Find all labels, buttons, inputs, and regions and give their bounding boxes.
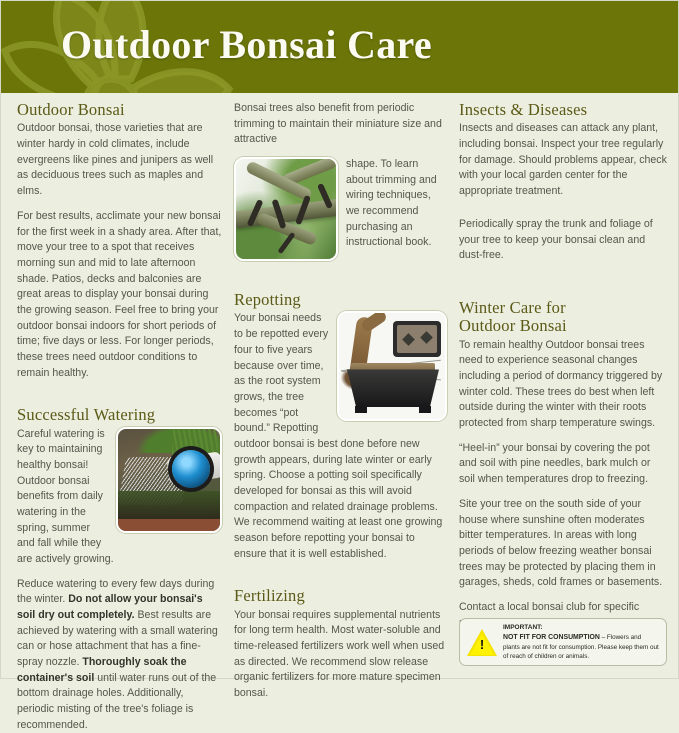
watering-photo [116,427,222,533]
content-columns: Outdoor Bonsai Outdoor bonsai, those var… [1,101,679,679]
column-right: Insects & Diseases Insects and diseases … [459,101,667,631]
repotting-photo [337,311,447,421]
outdoor-bonsai-paragraph-2: For best results, acclimate your new bon… [17,209,222,381]
column-left: Outdoor Bonsai Outdoor bonsai, those var… [17,101,222,733]
warning-line-1: IMPORTANT: [503,623,659,632]
column-middle: Bonsai trees also benefit from periodic … [234,101,447,702]
warning-text: IMPORTANT:NOT FIT FOR CONSUMPTION – Flow… [503,623,659,661]
trimming-paragraph-1: Bonsai trees also benefit from periodic … [234,101,447,148]
winter-care-paragraph-2: “Heel-in” your bonsai by covering the po… [459,441,667,488]
page-header: Outdoor Bonsai Care [1,1,678,93]
heading-insects-diseases: Insects & Diseases [459,101,667,119]
important-warning-box: ! IMPORTANT:NOT FIT FOR CONSUMPTION – Fl… [459,618,667,666]
spacer [17,390,222,406]
heading-successful-watering: Successful Watering [17,406,222,424]
heading-fertilizing: Fertilizing [234,587,447,605]
heading-outdoor-bonsai: Outdoor Bonsai [17,101,222,119]
warning-line-2-bold: NOT FIT FOR CONSUMPTION [503,634,600,641]
warning-triangle-icon: ! [467,629,497,656]
insects-paragraph-2: Periodically spray the trunk and foliage… [459,217,667,264]
winter-care-paragraph-1: To remain healthy Outdoor bonsai trees n… [459,338,667,432]
watering-paragraph-2: Reduce watering to every few days during… [17,577,222,733]
spacer [459,273,667,299]
exclamation-mark: ! [467,638,497,651]
wired-branch-photo [234,157,338,261]
header-divider [1,93,678,96]
heading-winter-care: Winter Care forOutdoor Bonsai [459,299,667,336]
insects-paragraph-1: Insects and diseases can attack any plan… [459,121,667,199]
poster-page: Outdoor Bonsai Care Outdoor Bonsai Outdo… [0,0,679,679]
winter-care-paragraph-3: Site your tree on the south side of your… [459,497,667,591]
heading-repotting: Repotting [234,291,447,309]
winter-care-heading-line-2: Outdoor Bonsai [459,316,567,335]
spacer [459,209,667,217]
spacer [234,265,447,291]
spacer [234,571,447,587]
fertilizing-paragraph-1: Your bonsai requires supplemental nutrie… [234,608,447,702]
outdoor-bonsai-paragraph-1: Outdoor bonsai, those varieties that are… [17,121,222,199]
winter-care-heading-line-1: Winter Care for [459,298,566,317]
page-title: Outdoor Bonsai Care [61,21,432,68]
